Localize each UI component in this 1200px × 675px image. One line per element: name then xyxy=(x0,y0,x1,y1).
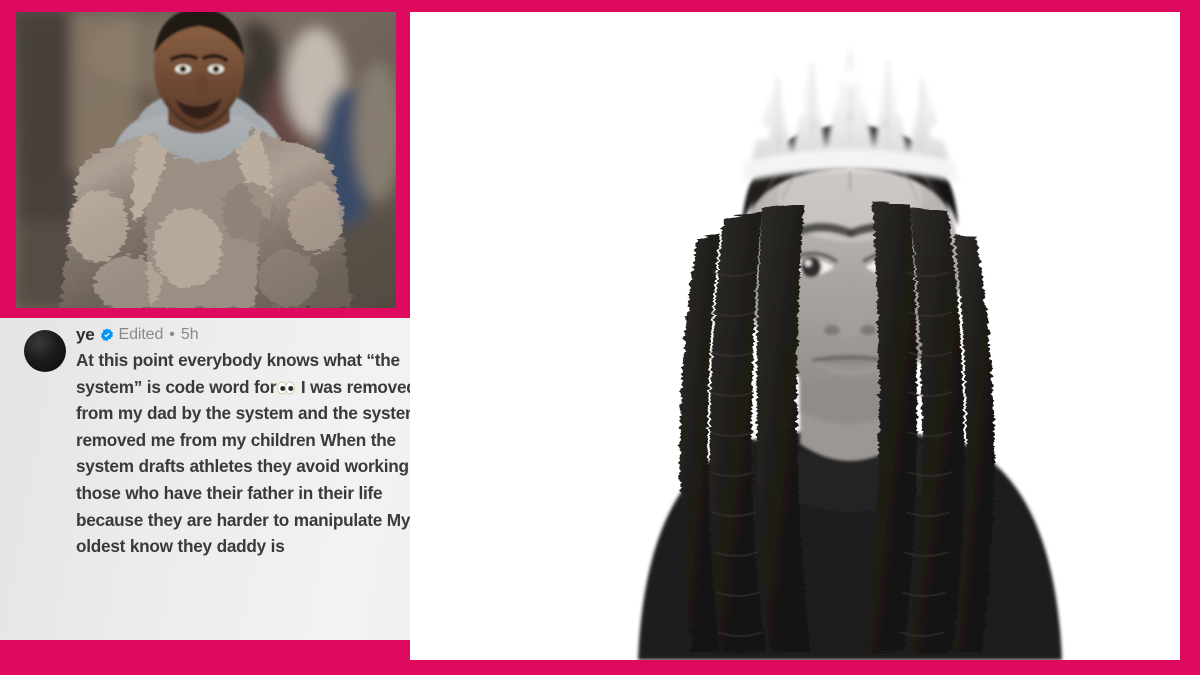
comment-timestamp: 5h xyxy=(181,324,199,346)
comment-text-part-11: daddy is xyxy=(217,536,285,556)
north-west-crown-portrait xyxy=(410,12,1180,660)
comment-text-part-3: I xyxy=(296,377,305,397)
edited-label: Edited xyxy=(119,324,164,346)
meta-separator: • xyxy=(168,324,176,346)
comment-text-part-1: At this point everybody knows what xyxy=(76,350,362,370)
comment-text-part-7: drafts athletes they avoid working xyxy=(138,456,408,476)
ye-profile-picture[interactable] xyxy=(24,330,66,372)
collage-canvas: ye Edited • 5h At this point everybody k… xyxy=(0,0,1200,675)
north-portrait-illustration xyxy=(410,12,1180,660)
eyes-emoji xyxy=(277,381,295,395)
comment-text: At this point everybody knows what “the … xyxy=(76,347,448,560)
comment-username[interactable]: ye xyxy=(76,324,95,346)
kanye-photo-illustration xyxy=(16,12,396,308)
verified-badge-icon xyxy=(100,328,114,342)
kanye-west-fur-coat-photo xyxy=(16,12,396,308)
